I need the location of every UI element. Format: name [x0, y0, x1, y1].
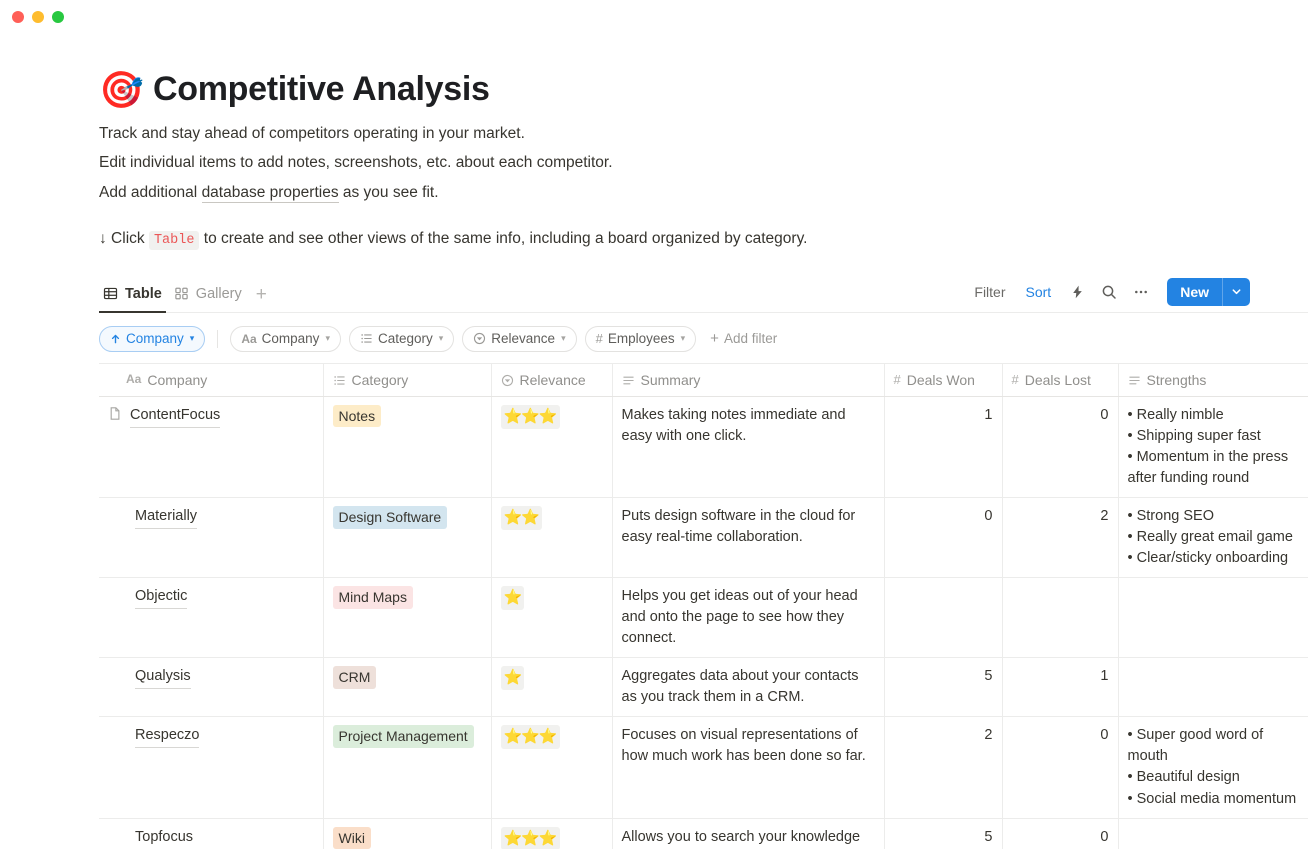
filter-chip-employees[interactable]: # Employees ▾	[585, 326, 697, 352]
cell-strengths[interactable]	[1118, 818, 1308, 849]
company-cell-inner: ContentFocus	[108, 405, 314, 428]
multiline-icon	[1128, 374, 1141, 387]
relevance-stars: ⭐⭐⭐	[501, 405, 560, 429]
cell-category[interactable]: Mind Maps	[323, 578, 491, 658]
cell-summary[interactable]: Makes taking notes immediate and easy wi…	[612, 397, 884, 498]
company-name-link[interactable]: Topfocus	[135, 827, 193, 849]
database-table: Aa Company Category	[99, 363, 1308, 849]
company-name-link[interactable]: Materially	[135, 506, 197, 529]
category-tag: Wiki	[333, 827, 371, 849]
cell-relevance[interactable]: ⭐⭐	[491, 498, 612, 578]
page-description: Track and stay ahead of competitors oper…	[99, 123, 1308, 204]
sort-chip-company[interactable]: Company ▾	[99, 326, 205, 352]
ellipsis-icon[interactable]	[1127, 279, 1155, 305]
database-properties-link[interactable]: database properties	[202, 184, 339, 203]
status-icon	[473, 332, 486, 345]
cell-summary[interactable]: Aggregates data about your contacts as y…	[612, 658, 884, 717]
chevron-down-icon: ▾	[325, 333, 330, 344]
column-header-category-label: Category	[352, 370, 409, 390]
window-close-button[interactable]	[12, 11, 24, 23]
page-title[interactable]: Competitive Analysis	[153, 70, 490, 109]
add-filter-label: Add filter	[724, 331, 777, 346]
view-action-group: Filter Sort New	[966, 278, 1250, 312]
table-row[interactable]: RespeczoProject Management⭐⭐⭐Focuses on …	[99, 717, 1308, 818]
cell-category[interactable]: Notes	[323, 397, 491, 498]
cell-summary[interactable]: Puts design software in the cloud for ea…	[612, 498, 884, 578]
cell-company[interactable]: Qualysis	[99, 658, 323, 717]
relevance-stars: ⭐	[501, 666, 525, 690]
add-filter-button[interactable]: + Add filter	[704, 330, 783, 347]
multiline-icon	[622, 374, 635, 387]
page-hint: ↓ Click Table to create and see other vi…	[99, 228, 1308, 251]
tab-gallery[interactable]: Gallery	[170, 282, 246, 313]
chevron-down-icon: ▾	[561, 333, 566, 344]
company-name-link[interactable]: Objectic	[135, 586, 187, 609]
cell-deals-lost[interactable]: 0	[1002, 818, 1118, 849]
chevron-down-icon[interactable]	[1223, 278, 1250, 306]
filter-chip-employees-label: Employees	[608, 331, 675, 346]
number-icon: #	[894, 371, 901, 390]
intro-line-2: Edit individual items to add notes, scre…	[99, 152, 1308, 174]
chip-divider	[217, 330, 218, 348]
column-header-relevance[interactable]: Relevance	[491, 363, 612, 396]
cell-summary[interactable]: Helps you get ideas out of your head and…	[612, 578, 884, 658]
cell-company[interactable]: ContentFocus	[99, 397, 323, 498]
window-zoom-button[interactable]	[52, 11, 64, 23]
intro-line-1: Track and stay ahead of competitors oper…	[99, 123, 1308, 145]
cell-deals-lost[interactable]: 1	[1002, 658, 1118, 717]
cell-strengths[interactable]: • Really nimble • Shipping super fast • …	[1118, 397, 1308, 498]
cell-deals-won[interactable]: 5	[884, 818, 1002, 849]
category-tag: CRM	[333, 666, 377, 688]
cell-deals-won[interactable]: 5	[884, 658, 1002, 717]
category-tag: Mind Maps	[333, 586, 413, 608]
new-button-label: New	[1167, 278, 1222, 306]
add-view-button[interactable]: +	[250, 285, 273, 312]
table-icon	[103, 286, 118, 301]
cell-category[interactable]: CRM	[323, 658, 491, 717]
cell-relevance[interactable]: ⭐	[491, 578, 612, 658]
number-icon: #	[596, 331, 603, 346]
table-row[interactable]: ObjecticMind Maps⭐Helps you get ideas ou…	[99, 578, 1308, 658]
company-cell-inner: Respeczo	[108, 725, 314, 748]
cell-deals-won[interactable]	[884, 578, 1002, 658]
column-header-summary[interactable]: Summary	[612, 363, 884, 396]
page-content: 🎯 Competitive Analysis Track and stay ah…	[0, 70, 1308, 849]
column-header-deals-lost[interactable]: # Deals Lost	[1002, 363, 1118, 396]
table-row[interactable]: QualysisCRM⭐Aggregates data about your c…	[99, 658, 1308, 717]
cell-strengths[interactable]	[1118, 578, 1308, 658]
category-tag: Design Software	[333, 506, 448, 528]
chevron-down-icon: ▾	[190, 333, 195, 344]
search-icon[interactable]	[1095, 279, 1123, 305]
cell-summary[interactable]: Allows you to search your knowledge base…	[612, 818, 884, 849]
company-name-link[interactable]: ContentFocus	[130, 405, 220, 428]
new-button[interactable]: New	[1167, 278, 1250, 306]
cell-relevance[interactable]: ⭐⭐⭐	[491, 397, 612, 498]
relevance-stars: ⭐⭐⭐	[501, 827, 560, 849]
cell-deals-lost[interactable]: 0	[1002, 397, 1118, 498]
company-cell-inner: Objectic	[108, 586, 314, 609]
hint-post: to create and see other views of the sam…	[199, 230, 807, 247]
filter-button[interactable]: Filter	[966, 280, 1013, 305]
number-icon: #	[1012, 371, 1019, 390]
lightning-icon[interactable]	[1063, 279, 1091, 305]
filter-chip-category-label: Category	[378, 331, 433, 346]
cell-company[interactable]: Respeczo	[99, 717, 323, 818]
text-icon: Aa	[126, 371, 141, 388]
cell-deals-lost[interactable]: 0	[1002, 717, 1118, 818]
intro-line-3-pre: Add additional	[99, 184, 202, 201]
cell-deals-won[interactable]: 1	[884, 397, 1002, 498]
table-row[interactable]: MateriallyDesign Software⭐⭐Puts design s…	[99, 498, 1308, 578]
cell-deals-lost[interactable]: 2	[1002, 498, 1118, 578]
cell-company[interactable]: Topfocus	[99, 818, 323, 849]
filter-chip-category[interactable]: Category ▾	[349, 326, 454, 352]
arrow-up-icon	[110, 333, 121, 345]
cell-deals-won[interactable]: 2	[884, 717, 1002, 818]
text-icon: Aa	[241, 332, 256, 346]
company-name-link[interactable]: Qualysis	[135, 666, 191, 689]
column-header-deals-won[interactable]: # Deals Won	[884, 363, 1002, 396]
intro-line-3: Add additional database properties as yo…	[99, 182, 1308, 204]
company-cell-inner: Qualysis	[108, 666, 314, 689]
cell-deals-won[interactable]: 0	[884, 498, 1002, 578]
target-emoji-icon[interactable]: 🎯	[99, 72, 141, 108]
column-header-deals-won-label: Deals Won	[907, 370, 975, 390]
cell-relevance[interactable]: ⭐	[491, 658, 612, 717]
company-cell-inner: Topfocus	[108, 827, 314, 849]
cell-category[interactable]: Design Software	[323, 498, 491, 578]
column-header-company-label: Company	[147, 370, 207, 390]
relevance-stars: ⭐	[501, 586, 525, 610]
cell-strengths[interactable]: • Super good word of mouth • Beautiful d…	[1118, 717, 1308, 818]
cell-summary[interactable]: Focuses on visual representations of how…	[612, 717, 884, 818]
filter-chip-company[interactable]: Aa Company ▾	[230, 326, 341, 352]
column-header-strengths[interactable]: Strengths	[1118, 363, 1308, 396]
filter-chip-company-label: Company	[262, 331, 320, 346]
cell-category[interactable]: Project Management	[323, 717, 491, 818]
hint-pre: ↓ Click	[99, 230, 149, 247]
sort-button[interactable]: Sort	[1018, 280, 1060, 305]
view-tab-list: Table Gallery +	[99, 281, 966, 312]
filter-chip-bar: Company ▾ Aa Company ▾ Category ▾ Releva…	[99, 325, 1308, 353]
relevance-stars: ⭐⭐⭐	[501, 725, 560, 749]
table-body: ContentFocusNotes⭐⭐⭐Makes taking notes i…	[99, 397, 1308, 849]
intro-line-3-post: as you see fit.	[339, 184, 439, 201]
column-header-company[interactable]: Aa Company	[99, 363, 323, 396]
cell-company[interactable]: Materially	[99, 498, 323, 578]
select-icon	[333, 374, 346, 387]
cell-company[interactable]: Objectic	[99, 578, 323, 658]
select-icon	[360, 332, 373, 345]
tab-table[interactable]: Table	[99, 282, 166, 313]
tab-gallery-label: Gallery	[196, 286, 242, 302]
chevron-down-icon: ▾	[439, 333, 444, 344]
category-tag: Notes	[333, 405, 382, 427]
table-header-row: Aa Company Category	[99, 363, 1308, 396]
filter-chip-relevance-label: Relevance	[491, 331, 555, 346]
cell-strengths[interactable]	[1118, 658, 1308, 717]
relevance-stars: ⭐⭐	[501, 506, 542, 530]
cell-deals-lost[interactable]	[1002, 578, 1118, 658]
company-cell-inner: Materially	[108, 506, 314, 529]
column-header-summary-label: Summary	[641, 370, 701, 390]
column-header-relevance-label: Relevance	[520, 370, 586, 390]
sort-chip-label: Company	[126, 331, 184, 346]
status-icon	[501, 374, 514, 387]
cell-strengths[interactable]: • Strong SEO • Really great email game •…	[1118, 498, 1308, 578]
company-name-link[interactable]: Respeczo	[135, 725, 199, 748]
page-header: 🎯 Competitive Analysis	[99, 70, 1308, 109]
window-minimize-button[interactable]	[32, 11, 44, 23]
column-header-deals-lost-label: Deals Lost	[1025, 370, 1091, 390]
table-row[interactable]: ContentFocusNotes⭐⭐⭐Makes taking notes i…	[99, 397, 1308, 498]
cell-relevance[interactable]: ⭐⭐⭐	[491, 818, 612, 849]
window-titlebar	[0, 0, 1308, 34]
cell-relevance[interactable]: ⭐⭐⭐	[491, 717, 612, 818]
category-tag: Project Management	[333, 725, 474, 747]
view-toolbar: Table Gallery + Filter Sort	[99, 277, 1308, 313]
cell-category[interactable]: Wiki	[323, 818, 491, 849]
hint-code-table: Table	[149, 231, 200, 250]
column-header-strengths-label: Strengths	[1147, 370, 1207, 390]
plus-icon: +	[710, 330, 719, 347]
filter-chip-relevance[interactable]: Relevance ▾	[462, 326, 576, 352]
gallery-icon	[174, 286, 189, 301]
chevron-down-icon: ▾	[681, 333, 686, 344]
table-row[interactable]: TopfocusWiki⭐⭐⭐Allows you to search your…	[99, 818, 1308, 849]
page-icon[interactable]	[108, 406, 123, 421]
tab-table-label: Table	[125, 286, 162, 302]
column-header-category[interactable]: Category	[323, 363, 491, 396]
